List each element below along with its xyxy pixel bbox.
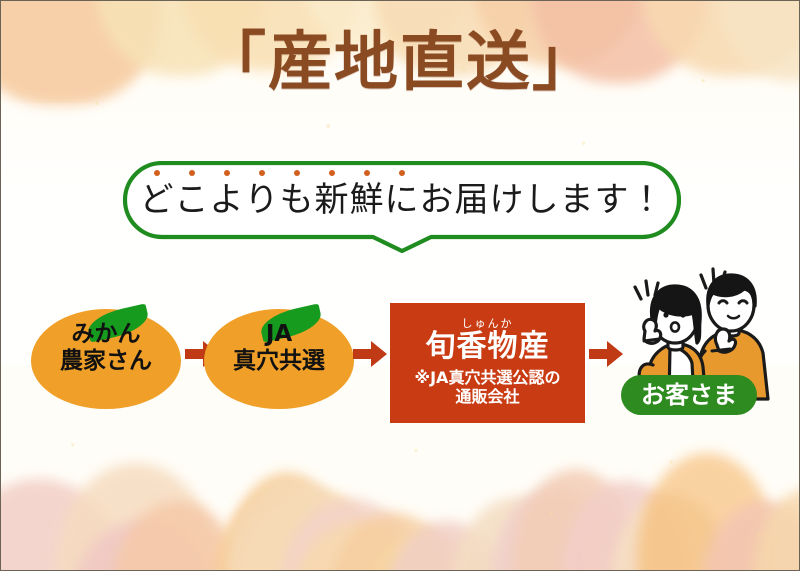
speech-bubble: どこよりも新鮮にお届けします！ xyxy=(123,161,681,253)
flow-step-customers[interactable]: お客さま xyxy=(613,259,788,434)
flow-step-mikan-farmer[interactable]: みかん 農家さん xyxy=(31,291,181,409)
emphasis-dot-char: り xyxy=(245,183,280,217)
bg-blob xyxy=(513,469,638,570)
page-title: 「産地直送」 xyxy=(1,31,799,95)
emphasis-dot-char: も xyxy=(280,183,315,217)
bg-blob xyxy=(56,463,216,570)
flow-step-ja-maana[interactable]: JA 真穴共選 xyxy=(204,291,354,409)
bg-blob xyxy=(701,501,799,570)
emphasis-dot-char: ど xyxy=(140,183,175,217)
arrow-right-icon xyxy=(353,341,387,367)
speech-bubble-text-emphasized: どこよりも新鮮に xyxy=(140,183,420,217)
bg-blob xyxy=(369,531,484,570)
emphasis-dot-char: 鮮 xyxy=(350,183,385,217)
company-note: ※JA真穴共選公認の 通販会社 xyxy=(415,368,561,406)
flow-step-label: みかん 農家さん xyxy=(31,321,181,375)
emphasis-dot-char: に xyxy=(385,183,420,217)
bg-blob xyxy=(297,519,417,570)
company-furigana: しゅんか xyxy=(462,318,514,329)
flow-step-shunka-bussan[interactable]: しゅんか 旬香物産 ※JA真穴共選公認の 通販会社 xyxy=(390,303,585,423)
bg-blob xyxy=(224,479,364,570)
bg-blob xyxy=(1,479,126,570)
bg-blob xyxy=(233,489,388,570)
emphasis-dot-char: 新 xyxy=(315,183,350,217)
bg-blob xyxy=(331,513,456,570)
speech-bubble-text: どこよりも新鮮にお届けします！ xyxy=(140,183,665,217)
bg-blob xyxy=(71,521,211,570)
bg-blob xyxy=(113,501,243,570)
bg-blob xyxy=(451,497,586,570)
bg-blob xyxy=(561,481,691,570)
poster-canvas: 「産地直送」 どこよりも新鮮にお届けします！ みかん 農家さん xyxy=(0,0,800,571)
bg-blob xyxy=(291,523,421,570)
company-name: 旬香物産 xyxy=(426,331,550,363)
speech-bubble-text-rest: お届けします！ xyxy=(420,183,665,217)
customer-badge[interactable]: お客さま xyxy=(621,375,757,415)
bg-blob xyxy=(229,473,344,570)
bg-blob xyxy=(611,493,731,570)
bg-blob xyxy=(753,489,799,570)
customer-badge-label: お客さま xyxy=(641,383,737,407)
bg-blob xyxy=(491,487,621,570)
flow-step-label: JA 真穴共選 xyxy=(204,321,354,375)
emphasis-dot-char: こ xyxy=(175,183,210,217)
bg-blob xyxy=(216,493,341,570)
emphasis-dot-char: よ xyxy=(210,183,245,217)
bg-blob xyxy=(637,453,777,570)
speech-bubble-body: どこよりも新鮮にお届けします！ xyxy=(123,161,681,239)
bg-blob xyxy=(281,499,421,570)
supply-chain-flow: みかん 農家さん JA 真穴共選 しゅんか 旬香物産 ※JA真穴共選公認の 通販… xyxy=(1,269,800,434)
bg-blob xyxy=(386,521,506,570)
